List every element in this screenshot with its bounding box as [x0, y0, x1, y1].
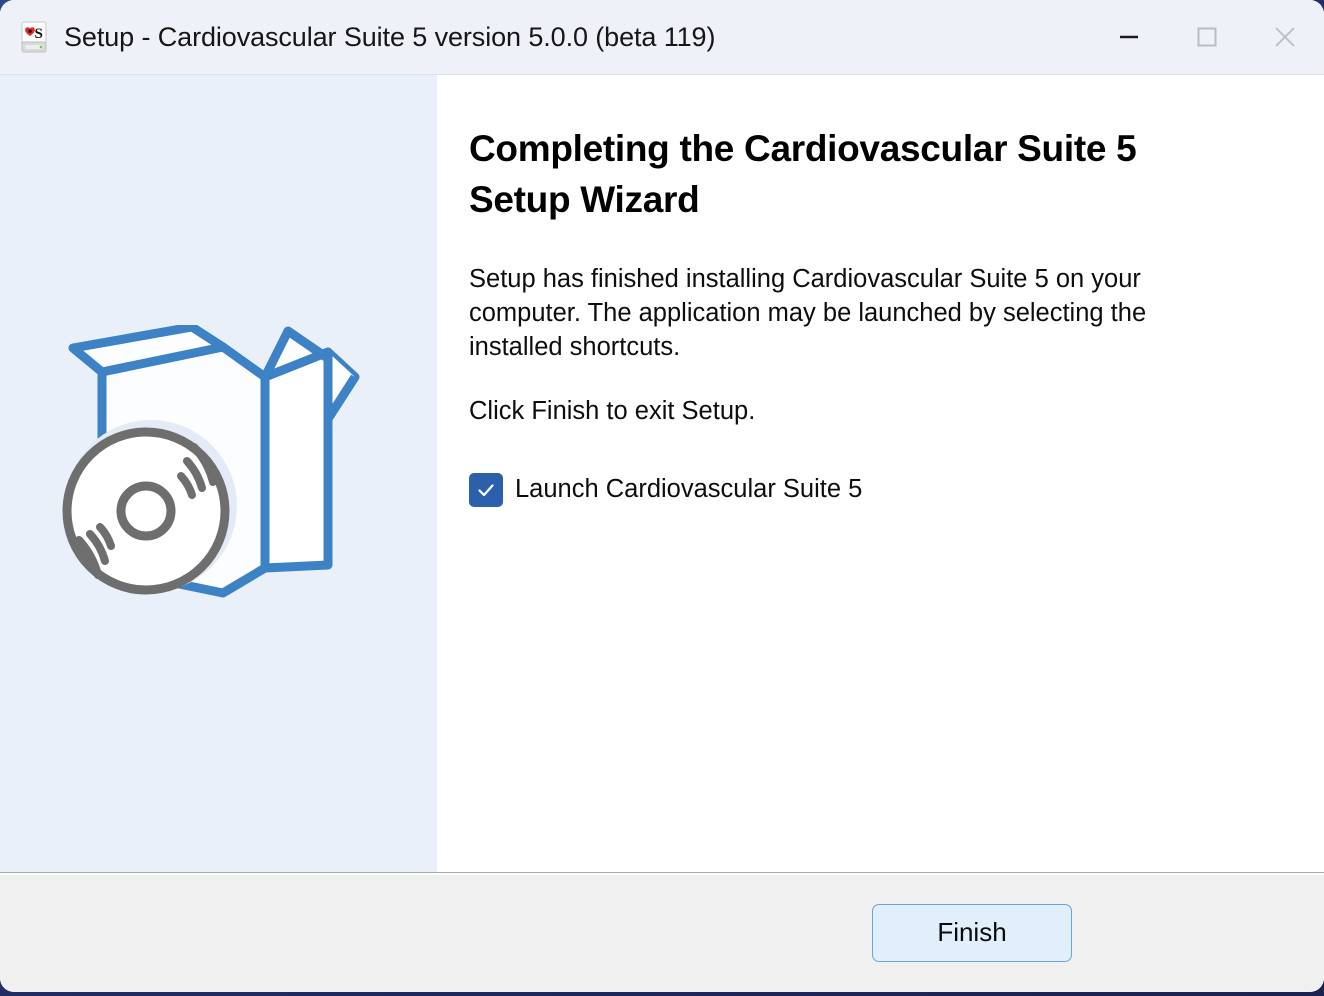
svg-text:S: S [35, 26, 43, 42]
finish-button[interactable]: Finish [872, 904, 1072, 962]
wizard-sidebar [0, 75, 437, 872]
title-bar[interactable]: S Setup - Cardiovascular Suite 5 version… [0, 0, 1324, 75]
page-title: Completing the Cardiovascular Suite 5 Se… [469, 123, 1229, 225]
window-title: Setup - Cardiovascular Suite 5 version 5… [64, 22, 715, 53]
checkmark-icon [475, 479, 497, 501]
open-box-with-disc-illustration [60, 325, 380, 625]
window-controls [1090, 0, 1324, 74]
app-heart-s-icon: S [16, 19, 52, 55]
launch-app-checkbox-label: Launch Cardiovascular Suite 5 [515, 475, 862, 504]
description-paragraph: Setup has finished installing Cardiovasc… [469, 263, 1244, 365]
maximize-icon[interactable] [1168, 0, 1246, 74]
wizard-footer: Finish [0, 872, 1324, 992]
launch-app-checkbox[interactable] [469, 473, 503, 507]
setup-wizard-window: S Setup - Cardiovascular Suite 5 version… [0, 0, 1324, 992]
instruction-paragraph: Click Finish to exit Setup. [469, 395, 1244, 429]
wizard-body: Completing the Cardiovascular Suite 5 Se… [0, 75, 1324, 872]
wizard-content: Completing the Cardiovascular Suite 5 Se… [437, 75, 1324, 872]
close-icon[interactable] [1246, 0, 1324, 74]
minimize-icon[interactable] [1090, 0, 1168, 74]
launch-app-checkbox-row[interactable]: Launch Cardiovascular Suite 5 [469, 473, 1254, 507]
